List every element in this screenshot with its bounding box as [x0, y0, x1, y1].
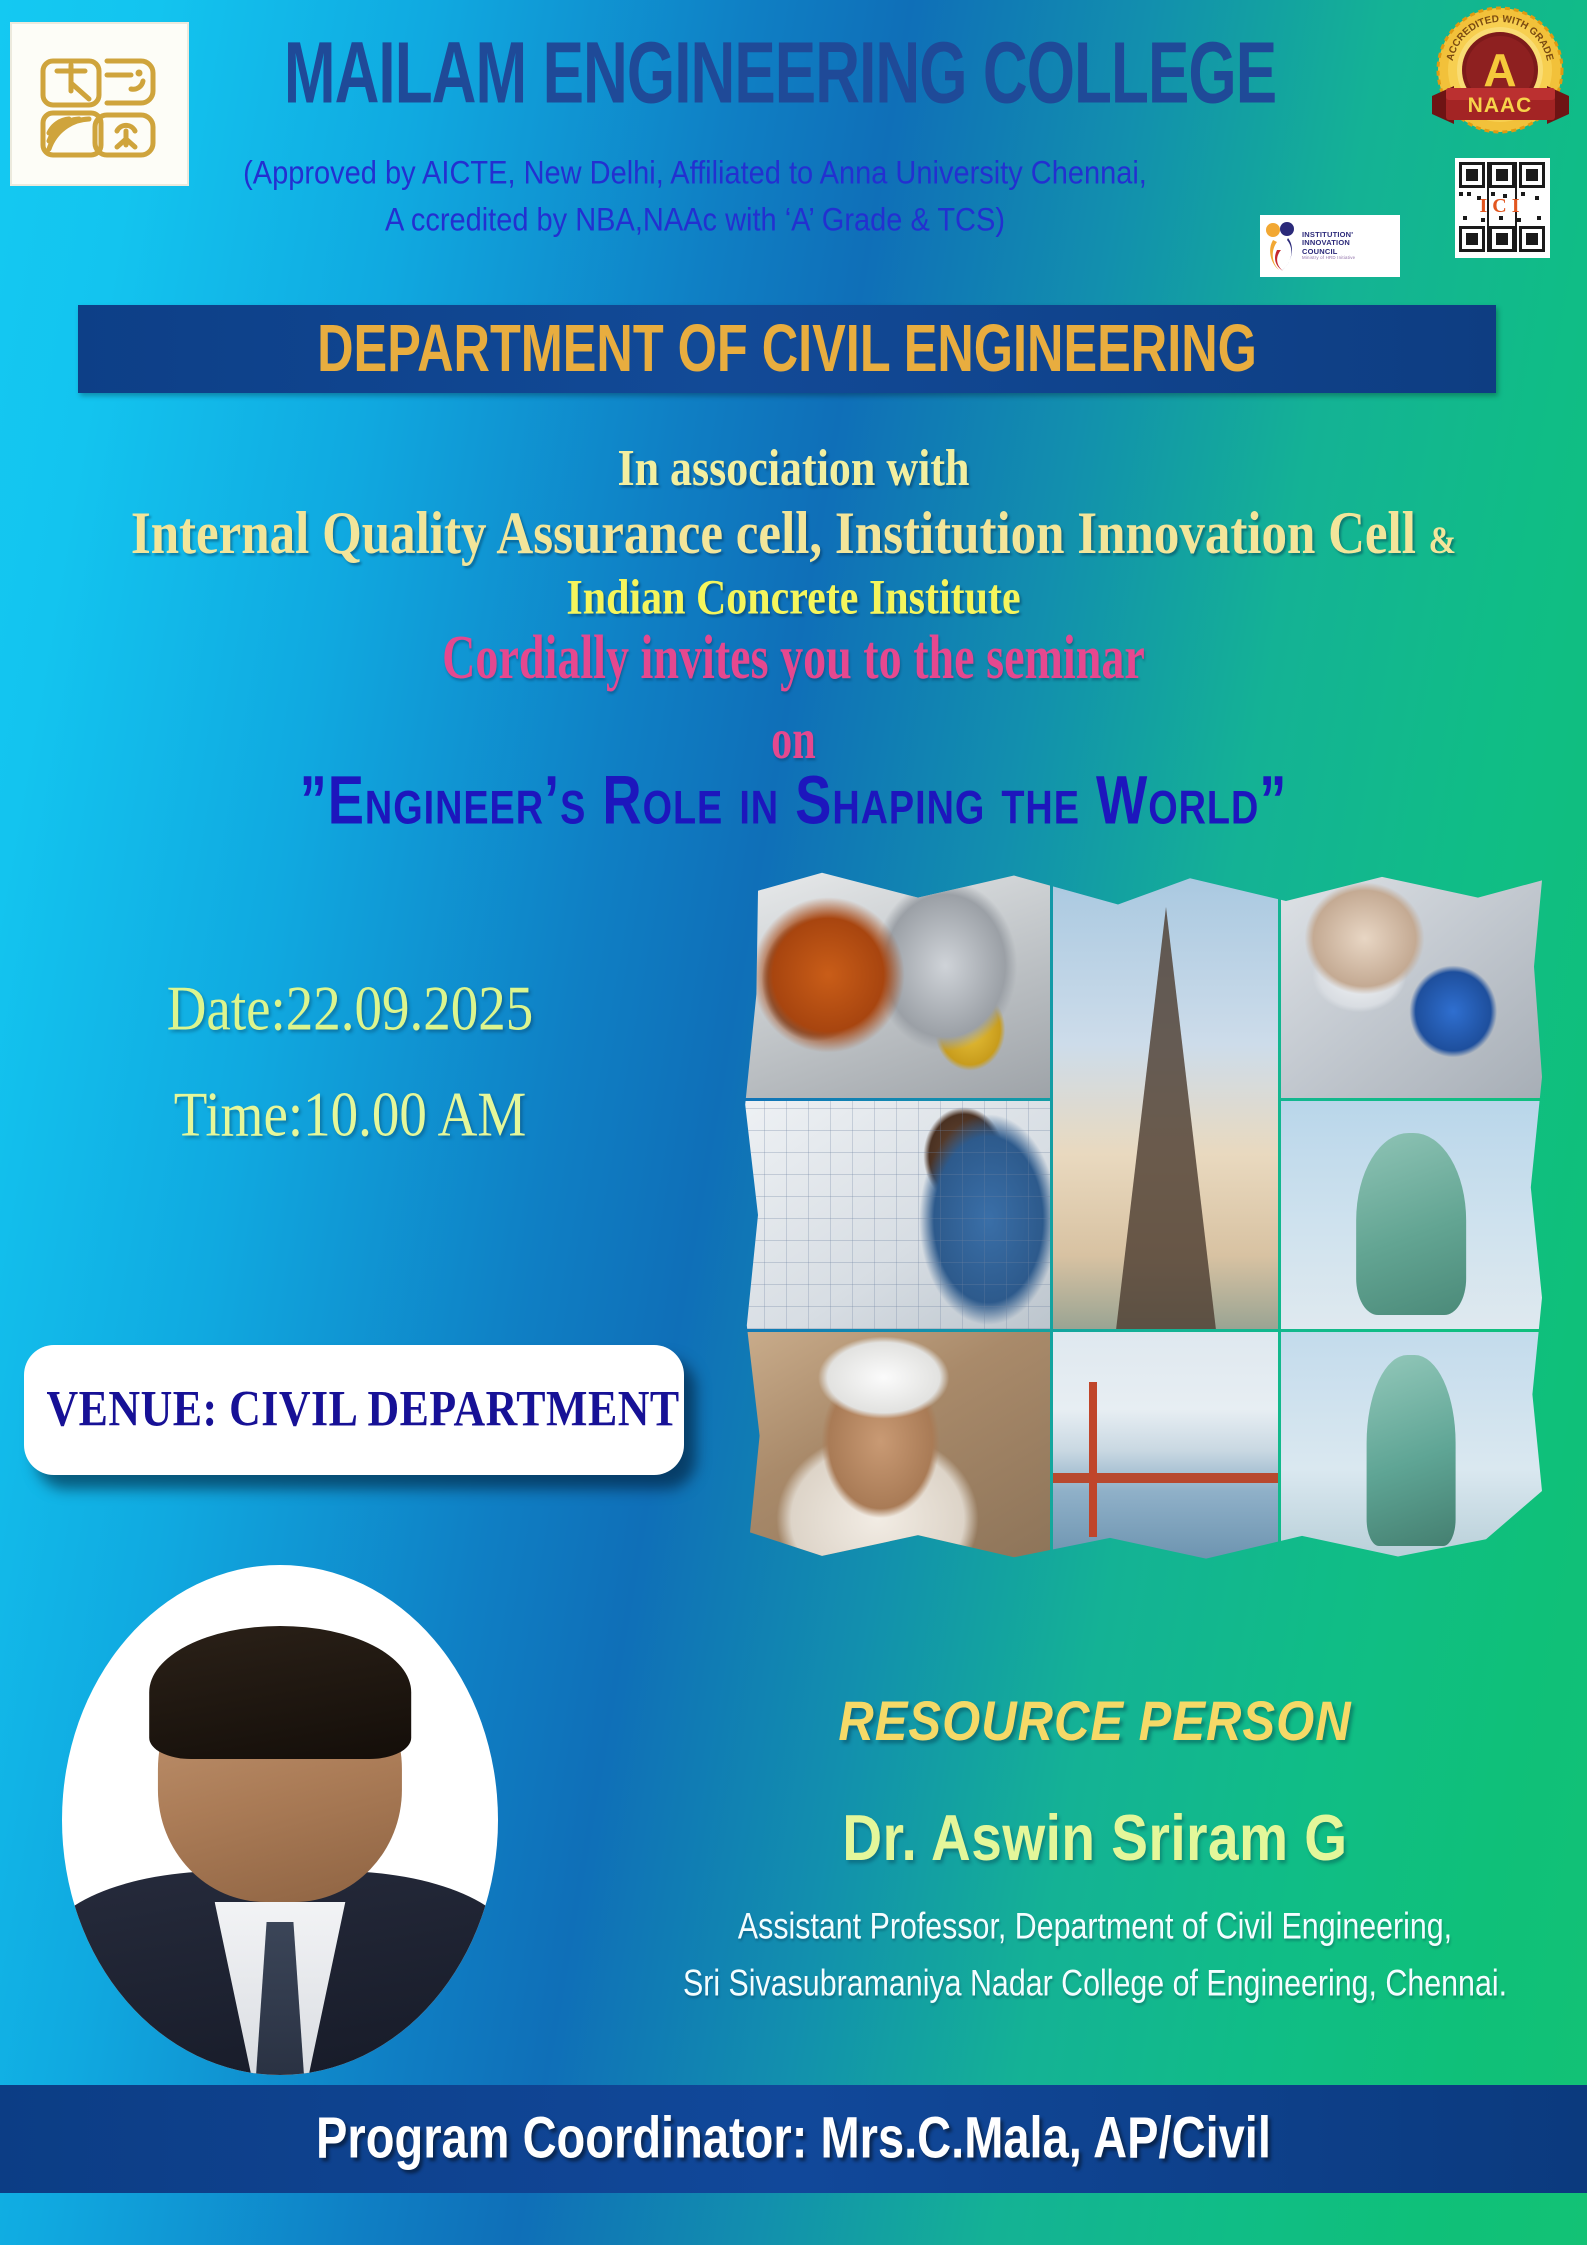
footer-bar: Program Coordinator: Mrs.C.Mala, AP/Civi…: [0, 2085, 1587, 2193]
resource-person-photo: [62, 1565, 498, 2075]
hair-shape: [149, 1626, 411, 1759]
department-title-bar: DEPARTMENT OF CIVIL ENGINEERING: [78, 305, 1496, 393]
assoc-iqac: Internal Quality Assurance cell: [131, 501, 810, 567]
seminar-poster: MAILAM ENGINEERING COLLEGE (Approved by …: [0, 0, 1587, 2245]
venue-text: VENUE: CIVIL DEPARTMENT: [24, 1345, 684, 1475]
woman-hardhat-engineer-photo: [742, 1332, 1050, 1560]
svg-text:NAAC: NAAC: [1468, 94, 1533, 117]
college-title: MAILAM ENGINEERING COLLEGE: [225, 22, 1334, 122]
engineer-machinery-photo: [742, 870, 1050, 1098]
lab-technician-photo: [1281, 870, 1542, 1098]
approval-line-2: A ccredited by NBA,NAAc with ‘A’ Grade &…: [140, 197, 1250, 244]
blueprint-engineer-photo: [742, 1101, 1050, 1329]
department-title: DEPARTMENT OF CIVIL ENGINEERING: [99, 293, 1474, 406]
resource-person-affiliation-1: Assistant Professor, Department of Civil…: [610, 1905, 1580, 1948]
iic-sub: Ministry of HRD Initiative: [1302, 256, 1355, 261]
association-line-3: Indian Concrete Institute: [0, 570, 1587, 627]
assoc-iic: , Institution Innovation Cell: [809, 501, 1428, 567]
approval-line-1: (Approved by AICTE, New Delhi, Affiliate…: [140, 150, 1250, 197]
event-date: Date:22.09.2025: [60, 972, 640, 1044]
eiffel-tower-photo: [1053, 870, 1278, 1329]
iic-logo-text: INSTITUTION' INNOVATION COUNCIL Ministry…: [1302, 231, 1355, 261]
event-time: Time:10.00 AM: [60, 1078, 640, 1150]
assoc-ampersand: &: [1429, 520, 1457, 562]
association-line-2: Internal Quality Assurance cell, Institu…: [0, 500, 1587, 568]
venue-box: VENUE: CIVIL DEPARTMENT: [24, 1345, 684, 1475]
statue-of-liberty-full-photo: [1281, 1332, 1542, 1560]
resource-person-heading: RESOURCE PERSON: [600, 1690, 1587, 1754]
association-line-1: In association with: [0, 438, 1587, 498]
invitation-line: Cordially invites you to the seminar: [32, 622, 1556, 694]
resource-person-name: Dr. Aswin Sriram G: [600, 1800, 1587, 1876]
resource-person-affiliation-2: Sri Sivasubramaniya Nadar College of Eng…: [610, 1962, 1580, 2005]
institution-innovation-council-logo: INSTITUTION' INNOVATION COUNCIL Ministry…: [1260, 215, 1400, 277]
ici-qr-logo: ICI: [1455, 158, 1550, 258]
statue-of-liberty-closeup-photo: [1281, 1101, 1542, 1329]
naac-accreditation-badge: A NAAC ACCREDITED WITH GRADE: [1428, 4, 1573, 152]
svg-text:ICI: ICI: [1479, 195, 1524, 217]
engineering-photo-collage: [742, 870, 1542, 1560]
college-approval-text: (Approved by AICTE, New Delhi, Affiliate…: [140, 150, 1250, 244]
seminar-title: ”Engineer’s Role in Shaping the World”: [24, 760, 1563, 839]
golden-gate-bridge-photo: [1053, 1332, 1278, 1560]
program-coordinator: Program Coordinator: Mrs.C.Mala, AP/Civi…: [16, 2073, 1571, 2205]
